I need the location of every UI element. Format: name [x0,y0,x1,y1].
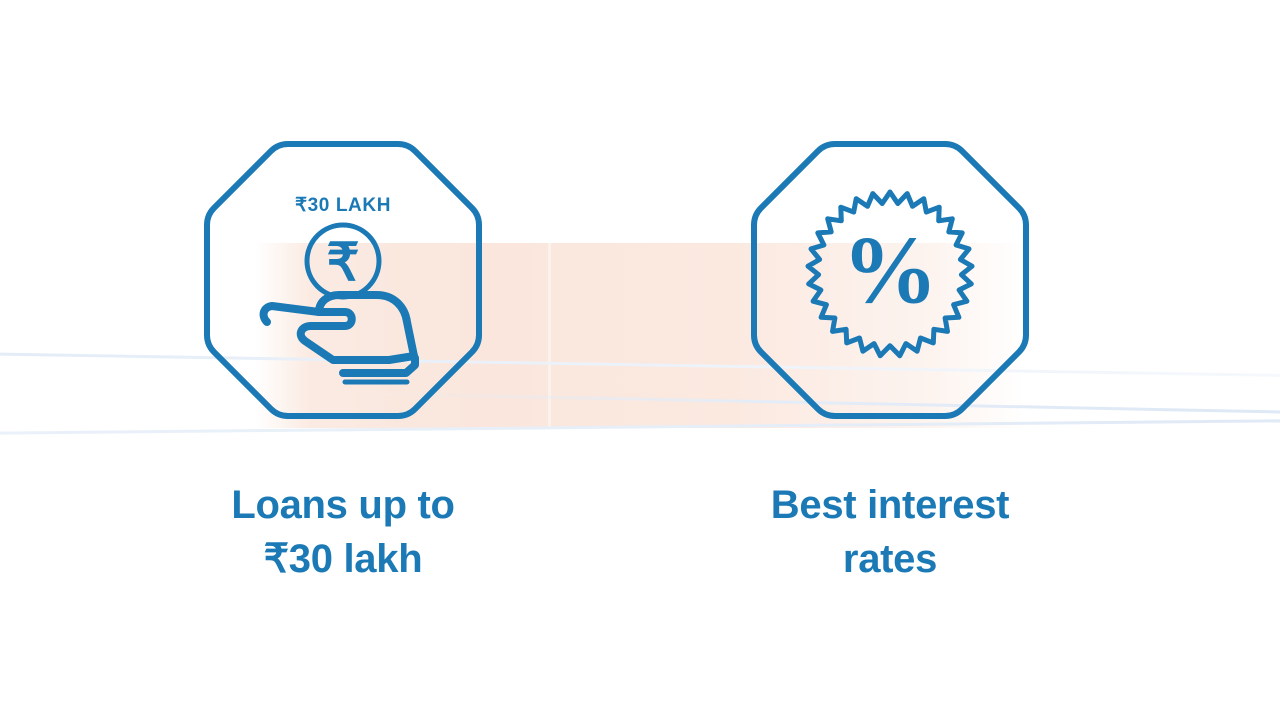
promo-slide: ₹30 LAKH ₹ Loans up to ₹30 [0,0,1280,720]
background-line-2 [0,419,1280,435]
badge-amount-text: ₹30 LAKH [295,195,391,216]
background-decoration [0,0,1280,720]
feature-caption-rates: Best interest rates [740,478,1040,587]
open-palm-shape [264,295,414,360]
percent-symbol: % [842,216,938,323]
hand-holding-rupee-coin-icon: ₹30 LAKH ₹ [193,130,493,430]
percent-starburst-badge-icon: % [740,130,1040,430]
rupee-symbol: ₹ [326,234,359,292]
background-line-1 [0,352,1280,378]
feature-caption-loans: Loans up to ₹30 lakh [193,478,493,587]
feature-card-rates: % Best interest rates [740,130,1040,587]
feature-card-loans: ₹30 LAKH ₹ Loans up to ₹30 [193,130,493,587]
